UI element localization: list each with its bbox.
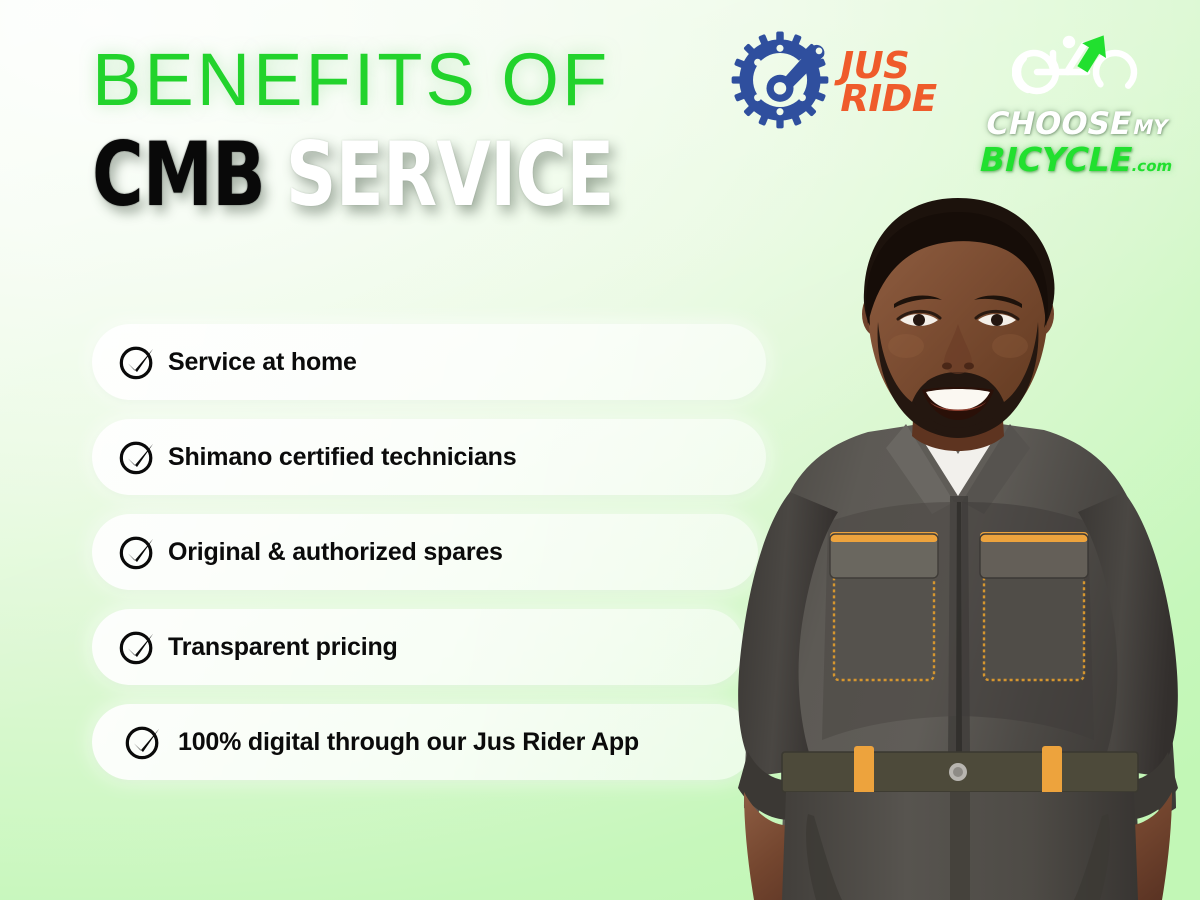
list-item[interactable]: Shimano certified technicians: [92, 419, 766, 495]
title-word-service: SERVICE: [286, 123, 614, 226]
list-item-label: 100% digital through our Jus Rider App: [178, 728, 639, 757]
poster-canvas: BENEFITS OF CMBSERVICE: [0, 0, 1200, 900]
list-item-label: Transparent pricing: [168, 633, 398, 662]
page-title: BENEFITS OF CMBSERVICE: [92, 44, 732, 215]
list-item[interactable]: Original & authorized spares: [92, 514, 758, 590]
choosemy-wordmark: CHOOSE MY: [983, 109, 1172, 140]
check-circle-icon: [124, 723, 162, 761]
check-circle-icon: [118, 343, 156, 381]
list-item[interactable]: Service at home: [92, 324, 766, 400]
jusride-line-2: RIDE: [837, 83, 940, 116]
list-item-label: Shimano certified technicians: [168, 443, 516, 472]
bicycle-wordmark: BICYCLE .com: [977, 143, 1178, 176]
jus-ride-logo[interactable]: JUS RIDE: [728, 28, 936, 137]
list-item-label: Original & authorized spares: [168, 538, 503, 567]
benefits-list: Service at home Shimano certified techni…: [92, 324, 792, 799]
choose-text: CHOOSE: [983, 109, 1134, 140]
list-item[interactable]: Transparent pricing: [92, 609, 744, 685]
check-circle-icon: [118, 533, 156, 571]
dotcom-text: .com: [1130, 159, 1174, 174]
title-line-cmb-service: CMBSERVICE: [92, 135, 604, 216]
list-item[interactable]: 100% digital through our Jus Rider App: [92, 704, 754, 780]
chainring-crank-icon: [728, 28, 832, 137]
title-word-cmb: CMB: [92, 123, 265, 226]
list-item-label: Service at home: [168, 348, 357, 377]
jus-ride-wordmark: JUS RIDE: [840, 50, 936, 115]
logo-row: JUS RIDE: [728, 28, 1174, 176]
choosemybicycle-logo[interactable]: CHOOSE MY BICYCLE .com: [980, 28, 1174, 176]
bicycle-text: BICYCLE: [977, 143, 1136, 176]
title-line-benefits-of: BENEFITS OF: [92, 44, 732, 117]
smiling-technician-photo: [718, 196, 1200, 900]
my-text: MY: [1131, 117, 1170, 137]
bicycle-arrow-icon: [1012, 28, 1142, 107]
check-circle-icon: [118, 438, 156, 476]
check-circle-icon: [118, 628, 156, 666]
